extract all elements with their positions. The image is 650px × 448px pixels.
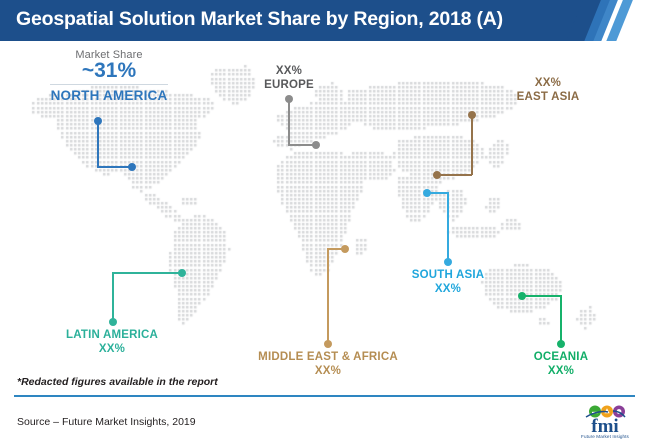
east-asia-anchor-dot-map — [433, 171, 441, 179]
mea-region-label: MIDDLE EAST & AFRICA — [253, 351, 403, 363]
europe-anchor-dot-map — [312, 141, 320, 149]
europe-line-vertical — [288, 99, 290, 145]
north-america-value: ~31% — [24, 60, 194, 82]
south-asia-anchor-dot-bottom — [444, 258, 452, 266]
source-caption: Source – Future Market Insights, 2019 — [17, 416, 196, 428]
header-banner: Geospatial Solution Market Share by Regi… — [0, 0, 650, 41]
north-america-anchor-dot-map — [128, 163, 136, 171]
fmi-logo[interactable]: fmi Future Market Insights — [573, 404, 637, 440]
latin-america-line-vertical — [112, 272, 114, 321]
logo-tagline: Future Market Insights — [581, 434, 630, 439]
page-title: Geospatial Solution Market Share by Regi… — [16, 8, 503, 31]
north-america-region-label: NORTH AMERICA — [24, 88, 194, 103]
north-america-divider — [50, 84, 168, 85]
oceania-line-vertical — [560, 295, 562, 343]
world-map: Market Share ~31% NORTH AMERICA XX% EURO… — [0, 41, 650, 381]
redacted-footnote: *Redacted figures available in the repor… — [17, 376, 218, 388]
mea-line-vertical — [327, 248, 329, 343]
north-america-line-vertical — [97, 121, 99, 167]
latin-america-region-label: LATIN AMERICA — [62, 329, 162, 341]
fmi-logo-svg: fmi Future Market Insights — [573, 404, 637, 440]
south-asia-line-vertical — [447, 192, 449, 261]
south-asia-value: XX% — [398, 283, 498, 295]
latin-america-value: XX% — [62, 343, 162, 355]
mea-line-horizontal — [327, 248, 343, 250]
east-asia-region-label: EAST ASIA — [498, 91, 598, 103]
footer-divider — [14, 395, 635, 397]
north-america-line-horizontal — [97, 166, 132, 168]
europe-region-label: EUROPE — [244, 79, 334, 91]
south-asia-region-label: SOUTH ASIA — [398, 269, 498, 281]
oceania-value: XX% — [511, 365, 611, 377]
oceania-anchor-dot-bottom — [557, 340, 565, 348]
latin-america-anchor-dot-bottom — [109, 318, 117, 326]
oceania-region-label: OCEANIA — [511, 351, 611, 363]
south-asia-line-horizontal — [427, 192, 449, 194]
mea-value: XX% — [253, 365, 403, 377]
east-asia-value: XX% — [498, 77, 598, 89]
east-asia-line-horizontal — [437, 174, 472, 176]
europe-value: XX% — [244, 65, 334, 77]
east-asia-line-vertical — [471, 115, 473, 175]
latin-america-line-horizontal — [112, 272, 180, 274]
north-america-label-block: Market Share ~31% NORTH AMERICA — [24, 49, 194, 103]
oceania-line-horizontal — [522, 295, 562, 297]
mea-anchor-dot-bottom — [324, 340, 332, 348]
